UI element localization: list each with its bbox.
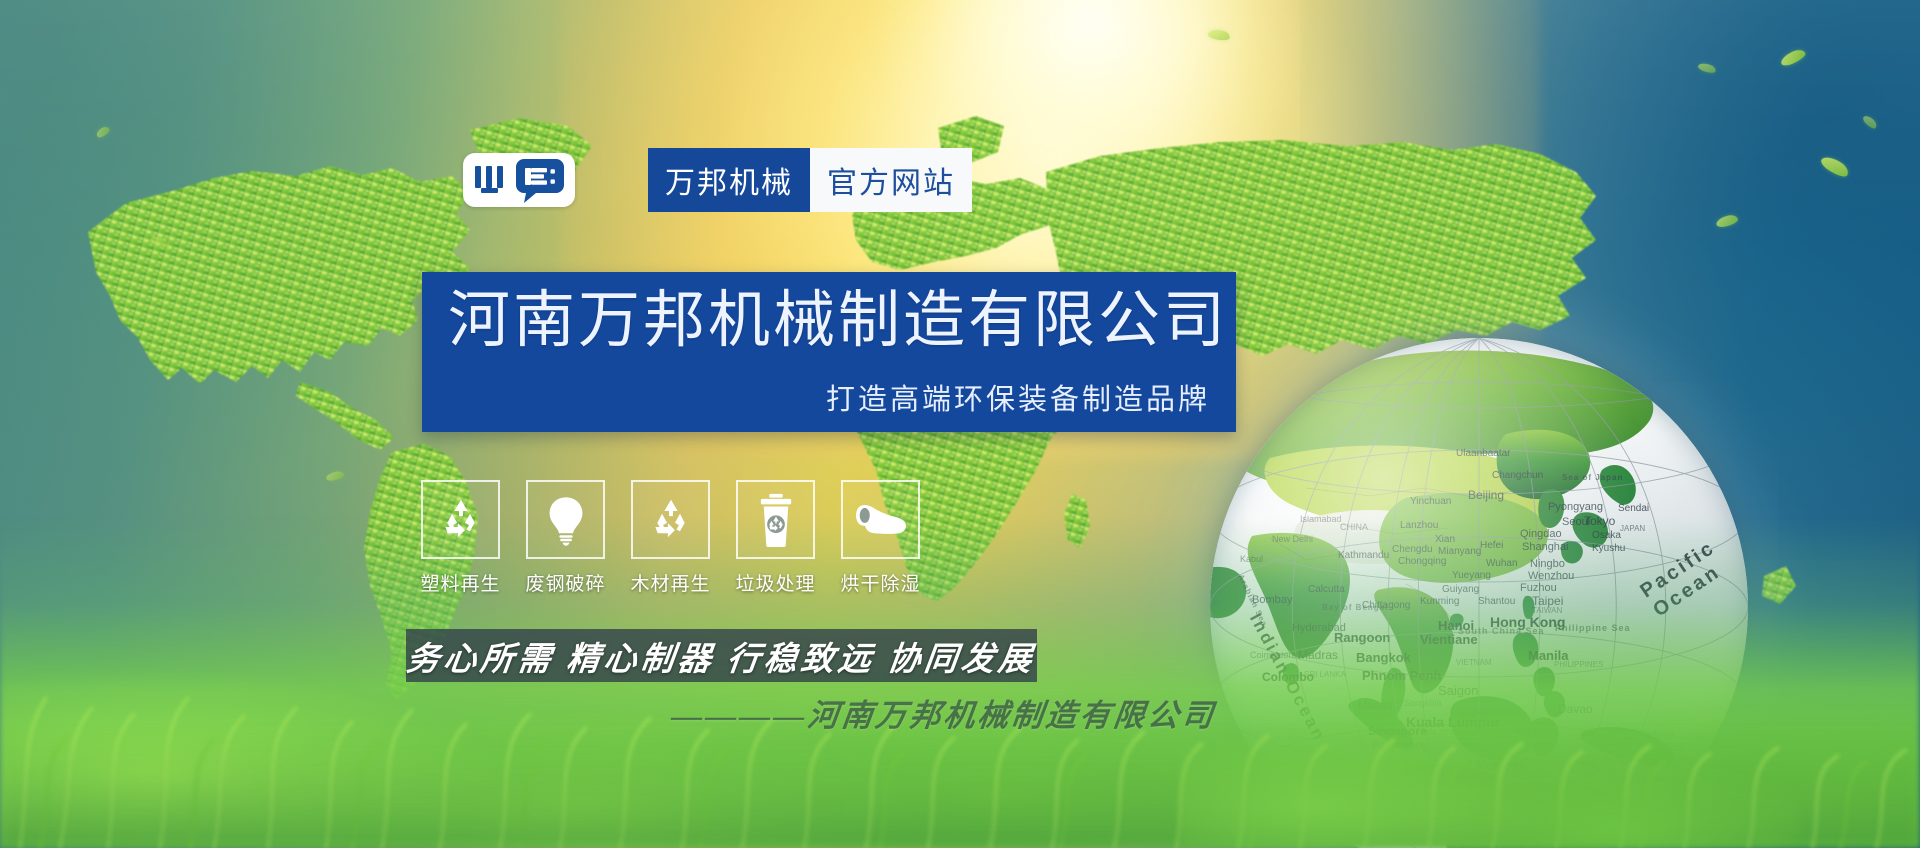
feature-icon-row: 塑料再生 废钢破碎 木材再生 垃圾处理 xyxy=(421,480,920,596)
feature-2[interactable]: 废钢破碎 xyxy=(526,480,605,596)
tab-wanbang-jixie[interactable]: 万邦机械 xyxy=(648,148,810,212)
feature-4[interactable]: 垃圾处理 xyxy=(736,480,815,596)
recycle-icon[interactable] xyxy=(421,480,500,559)
feature-label: 木材再生 xyxy=(631,569,711,596)
wanbang-logo[interactable] xyxy=(463,153,575,207)
feature-5[interactable]: 烘干除湿 xyxy=(841,480,920,596)
logo-w-icon xyxy=(472,163,510,197)
hero-title-panel: 河南万邦机械制造有限公司 打造高端环保装备制造品牌 xyxy=(422,272,1236,432)
page-subtitle: 打造高端环保装备制造品牌 xyxy=(826,376,1210,418)
trash-bin-recycle-icon[interactable] xyxy=(736,480,815,559)
hero-banner: Pacific OceanIndian OceanSouth China Sea… xyxy=(0,0,1920,848)
brand-tabs: 万邦机械 官方网站 xyxy=(648,148,972,212)
brand-row: 万邦机械 官方网站 xyxy=(463,148,972,212)
lightbulb-icon[interactable] xyxy=(526,480,605,559)
feature-label: 废钢破碎 xyxy=(526,569,606,596)
slogan-text: 务心所需 精心制器 行稳致远 协同发展 xyxy=(404,632,1039,680)
slogan-attribution: ————河南万邦机械制造有限公司 xyxy=(669,690,1219,735)
logo-b-icon xyxy=(514,157,566,203)
feature-1[interactable]: 塑料再生 xyxy=(421,480,500,596)
feature-3[interactable]: 木材再生 xyxy=(631,480,710,596)
slogan-band: 务心所需 精心制器 行稳致远 协同发展 xyxy=(406,629,1037,682)
page-title: 河南万邦机械制造有限公司 xyxy=(448,288,1228,355)
feature-label: 烘干除湿 xyxy=(841,569,921,596)
recycle-icon[interactable] xyxy=(631,480,710,559)
feature-label: 塑料再生 xyxy=(421,569,501,596)
tab-official-site[interactable]: 官方网站 xyxy=(810,148,972,212)
feature-label: 垃圾处理 xyxy=(736,569,816,596)
dryer-blower-icon[interactable] xyxy=(841,480,920,559)
